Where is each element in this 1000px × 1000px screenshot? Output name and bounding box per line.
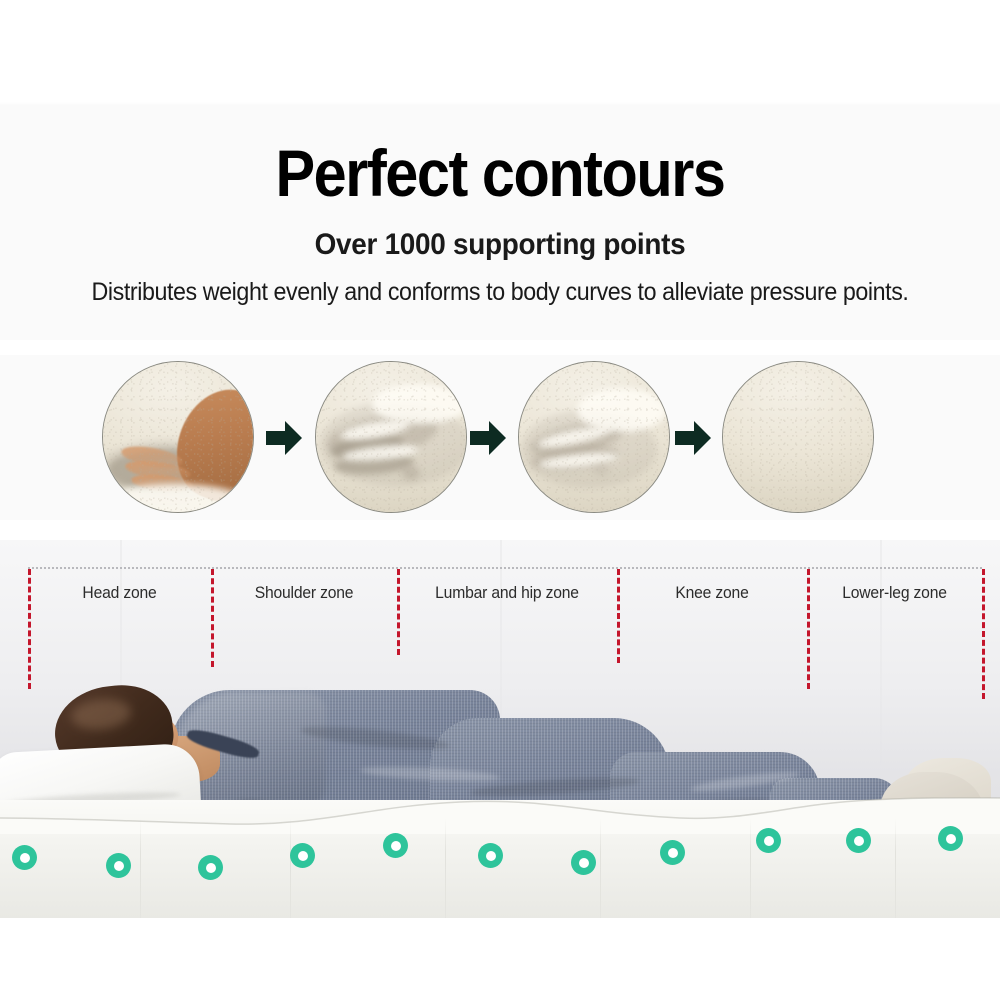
support-point-ring-icon xyxy=(478,843,503,868)
sleep-zone-photo: Head zone Shoulder zone Lumbar and hip z… xyxy=(0,540,1000,918)
zone-top-border xyxy=(28,567,982,569)
product-feature-graphic: Perfect contours Over 1000 supporting po… xyxy=(0,0,1000,1000)
foam-texture xyxy=(519,362,669,512)
mattress-top-edge xyxy=(0,788,1000,834)
page-title: Perfect contours xyxy=(50,140,950,206)
support-point-ring-icon xyxy=(106,853,131,878)
support-point-ring-icon xyxy=(846,828,871,853)
zone-divider xyxy=(617,569,620,663)
quilt-line xyxy=(140,818,141,918)
zone-divider xyxy=(211,569,214,667)
support-point-ring-icon xyxy=(198,855,223,880)
support-point-ring-icon xyxy=(571,850,596,875)
arrow-right-icon xyxy=(470,421,506,455)
foam-texture xyxy=(316,362,466,512)
subtitle: Over 1000 supporting points xyxy=(35,228,965,262)
zone-label-head: Head zone xyxy=(33,584,207,603)
support-point-ring-icon xyxy=(938,826,963,851)
quilt-line xyxy=(750,818,751,918)
arrow-right-icon xyxy=(266,421,302,455)
quilt-line xyxy=(290,818,291,918)
quilt-line xyxy=(445,818,446,918)
foam-step-4 xyxy=(722,361,874,513)
support-point-ring-icon xyxy=(660,840,685,865)
zone-divider xyxy=(28,569,31,689)
bottom-whitespace xyxy=(0,918,1000,1000)
zone-label-shoulder: Shoulder zone xyxy=(216,584,393,603)
support-point-ring-icon xyxy=(290,843,315,868)
foam-step-1 xyxy=(102,361,254,513)
zone-label-lumbar: Lumbar and hip zone xyxy=(403,584,612,603)
arrow-right-icon xyxy=(675,421,711,455)
zone-divider xyxy=(982,569,985,699)
description-text: Distributes weight evenly and conforms t… xyxy=(35,278,965,307)
hair-highlight xyxy=(70,696,133,732)
foam-texture xyxy=(103,362,253,512)
support-point-ring-icon xyxy=(12,845,37,870)
foam-texture xyxy=(723,362,873,512)
quilt-line xyxy=(895,818,896,918)
zone-divider xyxy=(807,569,810,689)
zone-label-knee: Knee zone xyxy=(622,584,803,603)
foam-step-3 xyxy=(518,361,670,513)
zone-label-lower-leg: Lower-leg zone xyxy=(811,584,977,603)
quilt-line xyxy=(600,818,601,918)
support-point-ring-icon xyxy=(383,833,408,858)
foam-step-2 xyxy=(315,361,467,513)
foam-recovery-sequence xyxy=(0,355,1000,520)
headline-section: Perfect contours Over 1000 supporting po… xyxy=(0,0,1000,340)
zone-divider xyxy=(397,569,400,655)
support-point-ring-icon xyxy=(756,828,781,853)
